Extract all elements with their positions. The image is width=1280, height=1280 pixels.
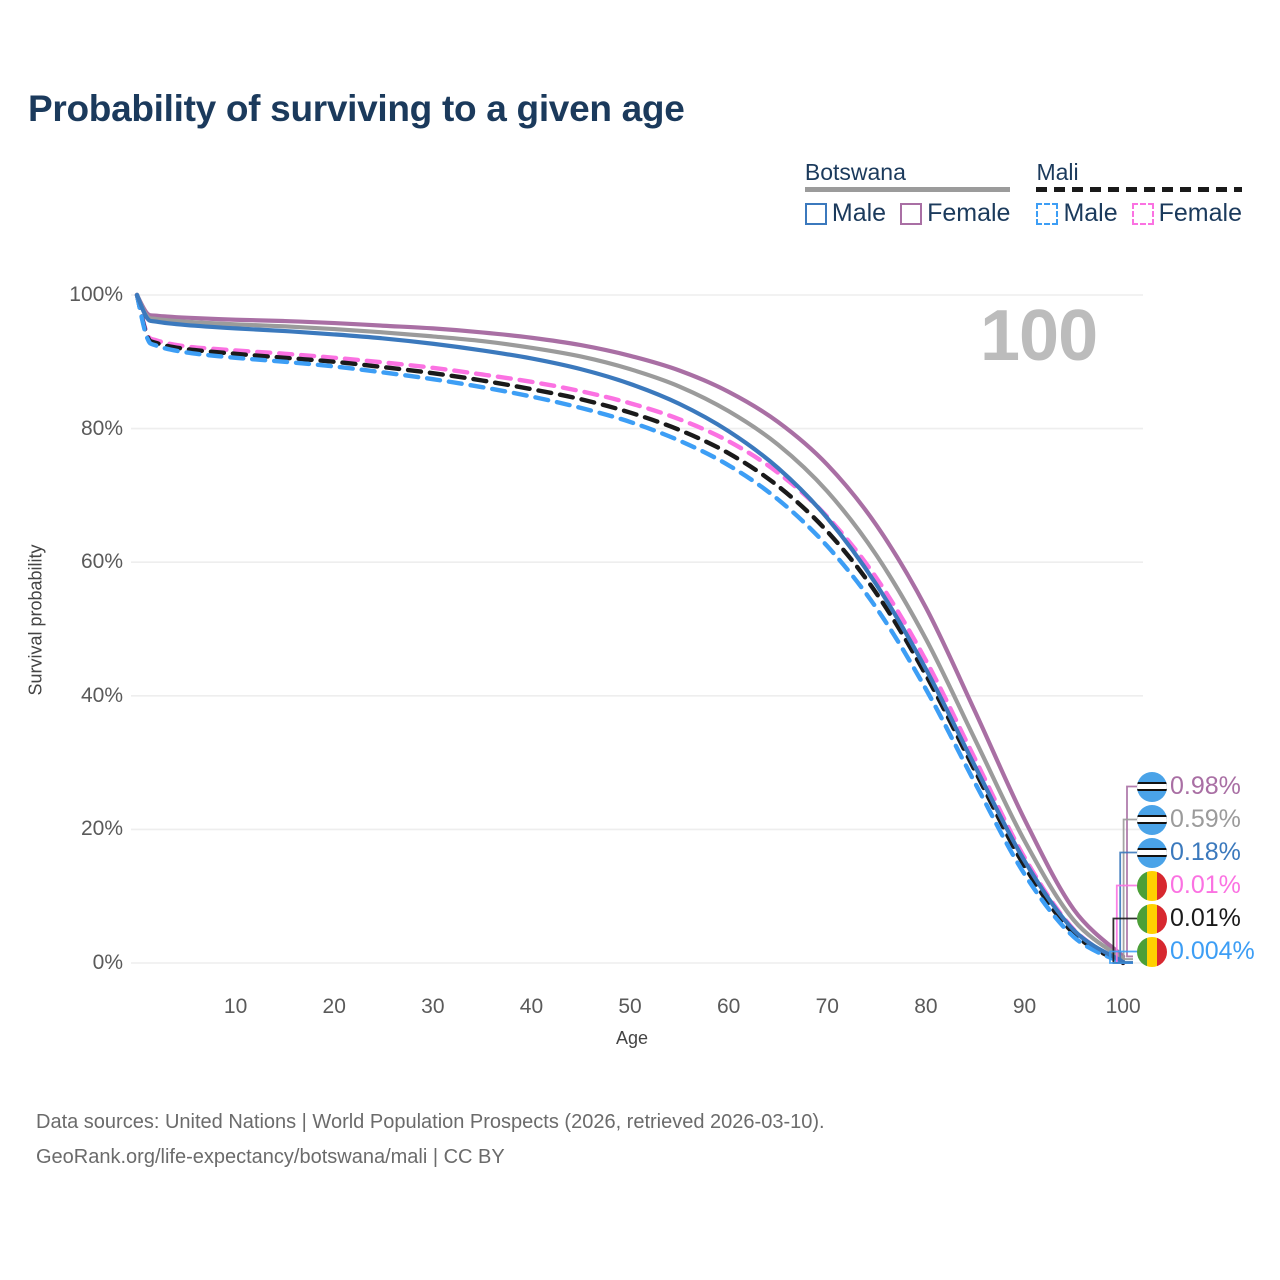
x-tick-label: 80: [914, 995, 937, 1019]
plot-area: 100 0%20%40%60%80%100% 10203040506070809…: [0, 0, 1280, 1280]
series-end-value: 0.98%: [1170, 772, 1241, 801]
y-tick-label: 60%: [33, 550, 123, 574]
x-tick-label: 20: [323, 995, 346, 1019]
series-end-label-row: 0.98%: [1137, 770, 1255, 803]
series-end-value: 0.01%: [1170, 871, 1241, 900]
chart-root: Probability of surviving to a given age …: [0, 0, 1280, 1280]
footer-line-2: GeoRank.org/life-expectancy/botswana/mal…: [36, 1140, 825, 1175]
y-tick-label: 0%: [33, 951, 123, 975]
footer-line-1: Data sources: United Nations | World Pop…: [36, 1105, 825, 1140]
x-tick-label: 40: [520, 995, 543, 1019]
y-tick-label: 40%: [33, 684, 123, 708]
x-axis-title: Age: [616, 1028, 648, 1049]
series-end-label-row: 0.18%: [1137, 836, 1255, 869]
flag-botswana-icon: [1137, 772, 1167, 802]
series-end-value: 0.59%: [1170, 805, 1241, 834]
flag-mali-icon: [1137, 937, 1167, 967]
series-end-label-row: 0.01%: [1137, 869, 1255, 902]
x-tick-label: 10: [224, 995, 247, 1019]
y-tick-label: 80%: [33, 417, 123, 441]
flag-botswana-icon: [1137, 805, 1167, 835]
series-end-label-row: 0.59%: [1137, 803, 1255, 836]
x-tick-label: 30: [421, 995, 444, 1019]
y-tick-label: 100%: [33, 283, 123, 307]
y-tick-label: 20%: [33, 817, 123, 841]
survival-curves-svg: [0, 0, 1280, 1280]
series-end-value: 0.18%: [1170, 838, 1241, 867]
flag-mali-icon: [1137, 904, 1167, 934]
x-tick-label: 90: [1013, 995, 1036, 1019]
footer-sources: Data sources: United Nations | World Pop…: [36, 1105, 825, 1175]
x-tick-label: 100: [1106, 995, 1141, 1019]
series-end-label-row: 0.01%: [1137, 902, 1255, 935]
x-tick-label: 70: [816, 995, 839, 1019]
x-tick-label: 50: [618, 995, 641, 1019]
series-end-label-row: 0.004%: [1137, 935, 1255, 968]
flag-mali-icon: [1137, 871, 1167, 901]
series-end-labels: 0.98%0.59%0.18%0.01%0.01%0.004%: [1137, 770, 1255, 968]
flag-botswana-icon: [1137, 838, 1167, 868]
y-axis-title: Survival probability: [26, 544, 47, 695]
series-end-value: 0.01%: [1170, 904, 1241, 933]
series-end-value: 0.004%: [1170, 937, 1255, 966]
x-tick-label: 60: [717, 995, 740, 1019]
